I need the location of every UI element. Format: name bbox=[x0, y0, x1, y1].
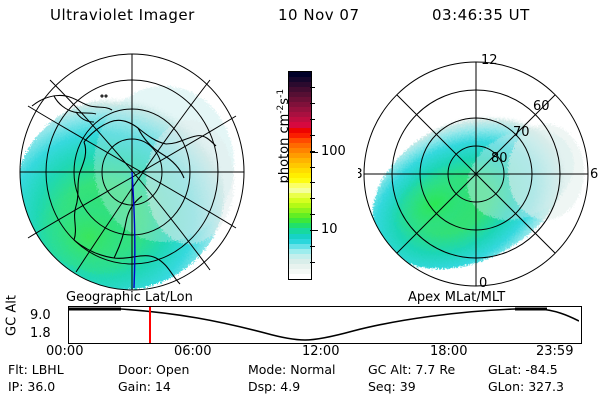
orbit-ytick-low: 1.8 bbox=[30, 326, 51, 341]
status-label: GC Alt: bbox=[368, 362, 416, 377]
status-label: GLat: bbox=[488, 362, 525, 377]
status-dsp: Dsp: 4.9 bbox=[248, 379, 300, 394]
mlt-label-0: 0 bbox=[479, 276, 487, 291]
orbit-xtick-1800: 18:00 bbox=[430, 344, 467, 359]
status-value: 14 bbox=[155, 379, 171, 394]
colorbar-minor-tick bbox=[310, 198, 315, 199]
orbit-altitude-panel[interactable]: Geographic Lat/Lon Apex MLat/MLT GC Alt … bbox=[0, 292, 600, 358]
status-value: 36.0 bbox=[27, 379, 55, 394]
colorbar-minor-tick bbox=[310, 182, 315, 183]
status-label: Gain: bbox=[118, 379, 155, 394]
colorbar-panel: photon cm-2s-1 10010 bbox=[258, 60, 354, 292]
observation-date: 10 Nov 07 bbox=[278, 6, 360, 24]
geographic-plot-svg bbox=[14, 44, 254, 292]
header-bar: Ultraviolet Imager 10 Nov 07 03:46:35 UT bbox=[0, 6, 600, 30]
status-value: 327.3 bbox=[528, 379, 564, 394]
colorbar-minor-tick bbox=[310, 103, 315, 104]
orbit-altitude-chart[interactable] bbox=[68, 306, 582, 344]
colorbar-minor-tick bbox=[310, 214, 315, 215]
mlt-label-6: 6 bbox=[590, 167, 598, 182]
apex-aurora-plot[interactable]: 12 18 6 0 60 70 80 bbox=[358, 44, 598, 292]
orbit-altitude-curve bbox=[69, 307, 579, 341]
aurora-emission-layer bbox=[16, 86, 234, 290]
mlat-label-70: 70 bbox=[513, 125, 530, 140]
colorbar-major-tick-100 bbox=[310, 152, 318, 153]
status-value: 39 bbox=[400, 379, 416, 394]
status-value: Open bbox=[156, 362, 189, 377]
status-value: -84.5 bbox=[525, 362, 557, 377]
apex-aurora-emission-layer bbox=[358, 77, 598, 292]
geographic-plot-title: Geographic Lat/Lon bbox=[66, 290, 193, 305]
colorbar-ticks: 10010 bbox=[310, 71, 354, 278]
orbit-y-axis-label: GC Alt bbox=[5, 288, 20, 344]
orbit-x-axis-ticks: 00:0006:0012:0018:0023:59 bbox=[0, 344, 600, 360]
observation-time: 03:46:35 UT bbox=[432, 6, 530, 24]
status-value: 4.9 bbox=[280, 379, 300, 394]
status-value: LBHL bbox=[32, 362, 64, 377]
status-gain: Gain: 14 bbox=[118, 379, 171, 394]
status-glat: GLat: -84.5 bbox=[488, 362, 558, 377]
colorbar-tick-label-10: 10 bbox=[321, 223, 338, 236]
orbit-xtick-2359: 23:59 bbox=[536, 344, 573, 359]
status-mode: Mode: Normal bbox=[248, 362, 335, 377]
orbit-xtick-0600: 06:00 bbox=[174, 344, 211, 359]
status-label: Door: bbox=[118, 362, 156, 377]
status-door: Door: Open bbox=[118, 362, 189, 377]
colorbar-minor-tick bbox=[310, 87, 315, 88]
status-block: Flt: LBHLDoor: OpenMode: NormalGC Alt: 7… bbox=[0, 362, 600, 398]
colorbar-minor-tick bbox=[310, 167, 315, 168]
apex-polar-grid bbox=[364, 62, 588, 286]
current-time-marker bbox=[149, 307, 151, 343]
colorbar-minor-tick bbox=[310, 246, 315, 247]
status-label: GLon: bbox=[488, 379, 528, 394]
colorbar-segment-40 bbox=[289, 274, 311, 279]
status-flt: Flt: LBHL bbox=[8, 362, 64, 377]
status-label: IP: bbox=[8, 379, 27, 394]
apex-plot-svg: 12 18 6 0 60 70 80 bbox=[358, 44, 598, 292]
apex-plot-title: Apex MLat/MLT bbox=[408, 290, 505, 305]
geographic-aurora-plot[interactable] bbox=[14, 44, 254, 292]
orbit-ytick-high: 9.0 bbox=[30, 308, 51, 323]
status-label: Mode: bbox=[248, 362, 290, 377]
colorbar-minor-tick bbox=[310, 262, 315, 263]
colorbar-major-tick-10 bbox=[310, 230, 318, 231]
colorbar-label-exp1: -2 bbox=[276, 105, 286, 114]
mlat-label-60: 60 bbox=[533, 99, 550, 114]
status-seq: Seq: 39 bbox=[368, 379, 416, 394]
colorbar-label-exp2: -1 bbox=[276, 89, 286, 98]
colorbar-gradient[interactable] bbox=[288, 71, 312, 280]
mlt-label-12: 12 bbox=[481, 53, 498, 68]
status-label: Seq: bbox=[368, 379, 400, 394]
status-value: Normal bbox=[290, 362, 335, 377]
colorbar-tick-label-100: 100 bbox=[321, 145, 346, 158]
mlat-label-80: 80 bbox=[491, 151, 508, 166]
colorbar-minor-tick bbox=[310, 119, 315, 120]
mlt-label-18: 18 bbox=[358, 167, 363, 182]
page-title: Ultraviolet Imager bbox=[50, 6, 195, 24]
colorbar-minor-tick bbox=[310, 135, 315, 136]
status-glon: GLon: 327.3 bbox=[488, 379, 564, 394]
orbit-xtick-0000: 00:00 bbox=[46, 344, 83, 359]
orbit-xtick-1200: 12:00 bbox=[302, 344, 339, 359]
status-label: Flt: bbox=[8, 362, 32, 377]
status-gc-alt: GC Alt: 7.7 Re bbox=[368, 362, 455, 377]
status-value: 7.7 Re bbox=[416, 362, 456, 377]
status-label: Dsp: bbox=[248, 379, 280, 394]
status-ip: IP: 36.0 bbox=[8, 379, 55, 394]
